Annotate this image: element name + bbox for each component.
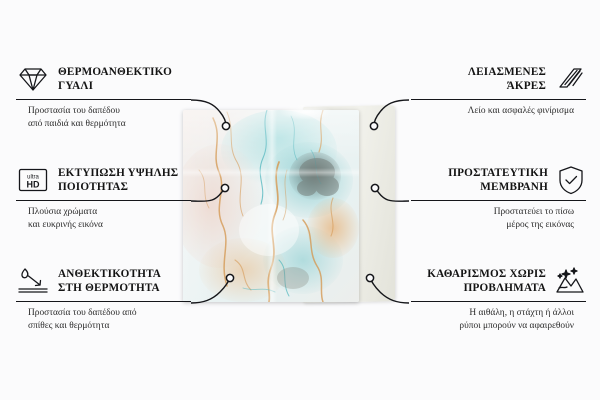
feature-header: ultra HD ΕΚΤΥΠΩΣΗ ΥΨΗΛΗΣ ΠΟΙΟΤΗΤΑΣ [16,163,191,197]
feature-description: Προστατεύει το πίσω μέρος της εικόνας [411,206,586,231]
feature-title: ΠΡΟΣΤΑΤΕΥΤΙΚΗ ΜΕΜΒΡΑΝΗ [448,166,548,195]
shield-check-icon [556,165,586,195]
feature-divider [16,200,191,201]
feature-title: ΛΕΙΑΣΜΕΝΕΣ ΆΚΡΕΣ [468,65,546,94]
flame-deflect-icon [16,266,50,296]
title-line-2: ΆΚΡΕΣ [468,79,546,93]
sparkle-wipe-icon [554,266,586,296]
feature-title: ΚΑΘΑΡΙΣΜΟΣ ΧΩΡΙΣ ΠΡΟΒΛΗΜΑΤΑ [427,267,546,296]
feature-description: Προστασία του δαπέδου από σπίθες και θερ… [16,307,191,332]
feature-protective-membrane: ΠΡΟΣΤΑΤΕΥΤΙΚΗ ΜΕΜΒΡΑΝΗ Προστατεύει το πί… [411,163,586,231]
feature-description: Πλούσια χρώματα και ευκρινής εικόνα [16,206,191,231]
title-line-2: ΠΟΙΟΤΗΤΑΣ [58,180,178,194]
feature-header: ΠΡΟΣΤΑΤΕΥΤΙΚΗ ΜΕΜΒΡΑΝΗ [411,163,586,197]
desc-line-2: από παιδιά και θερμότητα [28,118,191,131]
title-line-2: ΠΡΟΒΛΗΜΑΤΑ [427,281,546,295]
desc-line-2: μέρος της εικόνας [411,219,574,232]
desc-line-1: Η αιθάλη, η στάχτη ή άλλοι [411,307,574,320]
feature-description: Προστασία του δαπέδου από παιδιά και θερ… [16,105,191,130]
feature-divider [411,200,586,201]
feature-title: ΑΝΘΕΚΤΙΚΟΤΗΤΑ ΣΤΗ ΘΕΡΜΟΤΗΤΑ [58,267,161,296]
feature-divider [411,301,586,302]
desc-line-2: ρύποι μπορούν να αφαιρεθούν [411,320,574,333]
desc-line-1: Λείο και ασφαλές φινίρισμα [411,105,574,118]
polished-edges-icon [554,65,586,93]
desc-line-1: Προστασία του δαπέδου από [28,307,191,320]
title-line-1: ΘΕΡΜΟΑΝΘΕΚΤΙΚΟ [58,65,172,79]
title-line-1: ΑΝΘΕΚΤΙΚΟΤΗΤΑ [58,267,161,281]
marble-ink-pattern [183,110,359,302]
feature-title: ΘΕΡΜΟΑΝΘΕΚΤΙΚΟ ΓΥΑΛΙ [58,65,172,94]
title-line-1: ΠΡΟΣΤΑΤΕΥΤΙΚΗ [448,166,548,180]
desc-line-1: Προστατεύει το πίσω [411,206,574,219]
product-image [183,110,395,302]
feature-divider [16,301,191,302]
title-line-1: ΕΚΤΥΠΩΣΗ ΥΨΗΛΗΣ [58,166,178,180]
feature-title: ΕΚΤΥΠΩΣΗ ΥΨΗΛΗΣ ΠΟΙΟΤΗΤΑΣ [58,166,178,195]
desc-line-1: Πλούσια χρώματα [28,206,191,219]
feature-header: ΛΕΙΑΣΜΕΝΕΣ ΆΚΡΕΣ [411,62,586,96]
feature-header: ΘΕΡΜΟΑΝΘΕΚΤΙΚΟ ΓΥΑΛΙ [16,62,191,96]
title-line-2: ΓΥΑΛΙ [58,79,172,93]
feature-header: ΚΑΘΑΡΙΣΜΟΣ ΧΩΡΙΣ ΠΡΟΒΛΗΜΑΤΑ [411,264,586,298]
title-line-2: ΜΕΜΒΡΑΝΗ [448,180,548,194]
title-line-1: ΛΕΙΑΣΜΕΝΕΣ [468,65,546,79]
title-line-2: ΣΤΗ ΘΕΡΜΟΤΗΤΑ [58,281,161,295]
desc-line-1: Προστασία του δαπέδου [28,105,191,118]
product-front-glass [183,110,359,302]
feature-divider [16,99,191,100]
infographic-stage: ΘΕΡΜΟΑΝΘΕΚΤΙΚΟ ΓΥΑΛΙ Προστασία του δαπέδ… [0,0,600,400]
desc-line-2: σπίθες και θερμότητα [28,320,191,333]
feature-heat-resistance: ΑΝΘΕΚΤΙΚΟΤΗΤΑ ΣΤΗ ΘΕΡΜΟΤΗΤΑ Προστασία το… [16,264,191,332]
feature-divider [411,99,586,100]
feature-high-quality-print: ultra HD ΕΚΤΥΠΩΣΗ ΥΨΗΛΗΣ ΠΟΙΟΤΗΤΑΣ Πλούσ… [16,163,191,231]
feature-description: Η αιθάλη, η στάχτη ή άλλοι ρύποι μπορούν… [411,307,586,332]
feature-easy-cleaning: ΚΑΘΑΡΙΣΜΟΣ ΧΩΡΙΣ ΠΡΟΒΛΗΜΑΤΑ Η αιθάλη, η … [411,264,586,332]
feature-heat-resistant-glass: ΘΕΡΜΟΑΝΘΕΚΤΙΚΟ ΓΥΑΛΙ Προστασία του δαπέδ… [16,62,191,130]
ultra-hd-icon: ultra HD [16,166,50,194]
feature-header: ΑΝΘΕΚΤΙΚΟΤΗΤΑ ΣΤΗ ΘΕΡΜΟΤΗΤΑ [16,264,191,298]
diamond-icon [16,65,50,93]
feature-polished-edges: ΛΕΙΑΣΜΕΝΕΣ ΆΚΡΕΣ Λείο και ασφαλές φινίρι… [411,62,586,118]
hd-label: HD [27,180,40,190]
title-line-1: ΚΑΘΑΡΙΣΜΟΣ ΧΩΡΙΣ [427,267,546,281]
top-highlight [279,104,333,120]
feature-description: Λείο και ασφαλές φινίρισμα [411,105,586,118]
desc-line-2: και ευκρινής εικόνα [28,219,191,232]
